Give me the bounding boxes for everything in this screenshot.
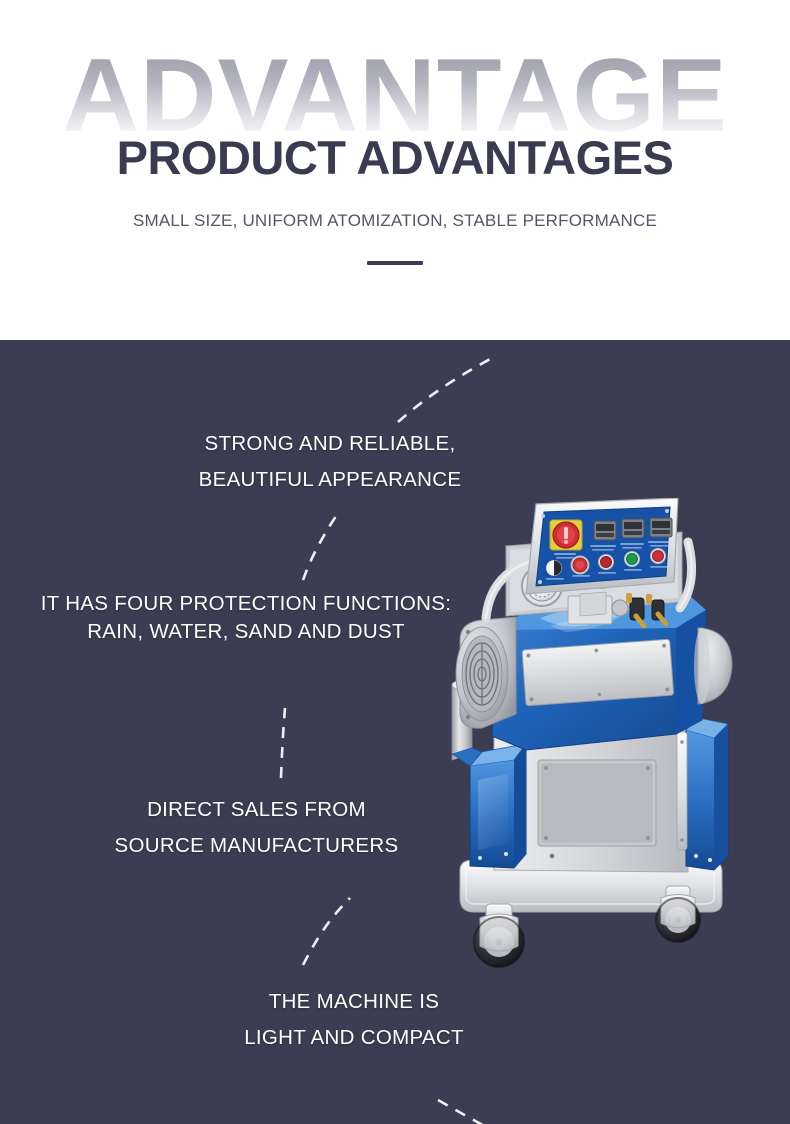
feature-line-2: LIGHT AND COMPACT (0, 1020, 708, 1056)
caster-front-left (474, 904, 524, 967)
advantages-panel: STRONG AND RELIABLE, BEAUTIFUL APPEARANC… (0, 340, 790, 1124)
page-subtitle: SMALL SIZE, UNIFORM ATOMIZATION, STABLE … (0, 211, 790, 231)
right-blue-box (677, 718, 728, 870)
button-dark-red[interactable] (599, 555, 614, 570)
emergency-stop-switch[interactable] (550, 520, 582, 550)
display-1[interactable] (594, 521, 616, 540)
product-advantages-page: ADVANTAGE PRODUCT ADVANTAGES SMALL SIZE,… (0, 0, 790, 1124)
product-image (430, 498, 770, 998)
motor-fan-housing (456, 617, 516, 728)
button-red[interactable] (651, 549, 666, 564)
left-blue-tank (470, 744, 526, 868)
panel-support-post (580, 592, 606, 616)
connector-line-5 (438, 1100, 523, 1124)
display-3[interactable] (650, 518, 672, 537)
connector-line-2 (303, 516, 336, 580)
feature-line-2: BEAUTIFUL APPEARANCE (0, 462, 660, 498)
feature-line-1: STRONG AND RELIABLE, (0, 426, 660, 462)
control-panel[interactable] (526, 498, 678, 594)
feature-text-1: IT HAS FOUR PROTECTION FUNCTIONS: RAIN, … (0, 590, 492, 645)
feature-line-2: RAIN, WATER, SAND AND DUST (0, 618, 492, 646)
button-black[interactable] (547, 561, 562, 576)
header-section: ADVANTAGE PRODUCT ADVANTAGES SMALL SIZE,… (0, 0, 790, 340)
button-red-mushroom[interactable] (571, 556, 589, 574)
connector-line-4 (303, 898, 350, 965)
button-green[interactable] (625, 552, 640, 567)
page-title: PRODUCT ADVANTAGES (0, 132, 790, 184)
display-2[interactable] (622, 519, 644, 538)
title-divider (367, 261, 423, 265)
connector-line-3 (281, 708, 285, 778)
feature-text-0: STRONG AND RELIABLE, BEAUTIFUL APPEARANC… (0, 426, 660, 499)
motor-cylinder-right (694, 628, 732, 704)
connector-line-1 (398, 358, 492, 422)
feature-line-1: IT HAS FOUR PROTECTION FUNCTIONS: (0, 590, 492, 618)
